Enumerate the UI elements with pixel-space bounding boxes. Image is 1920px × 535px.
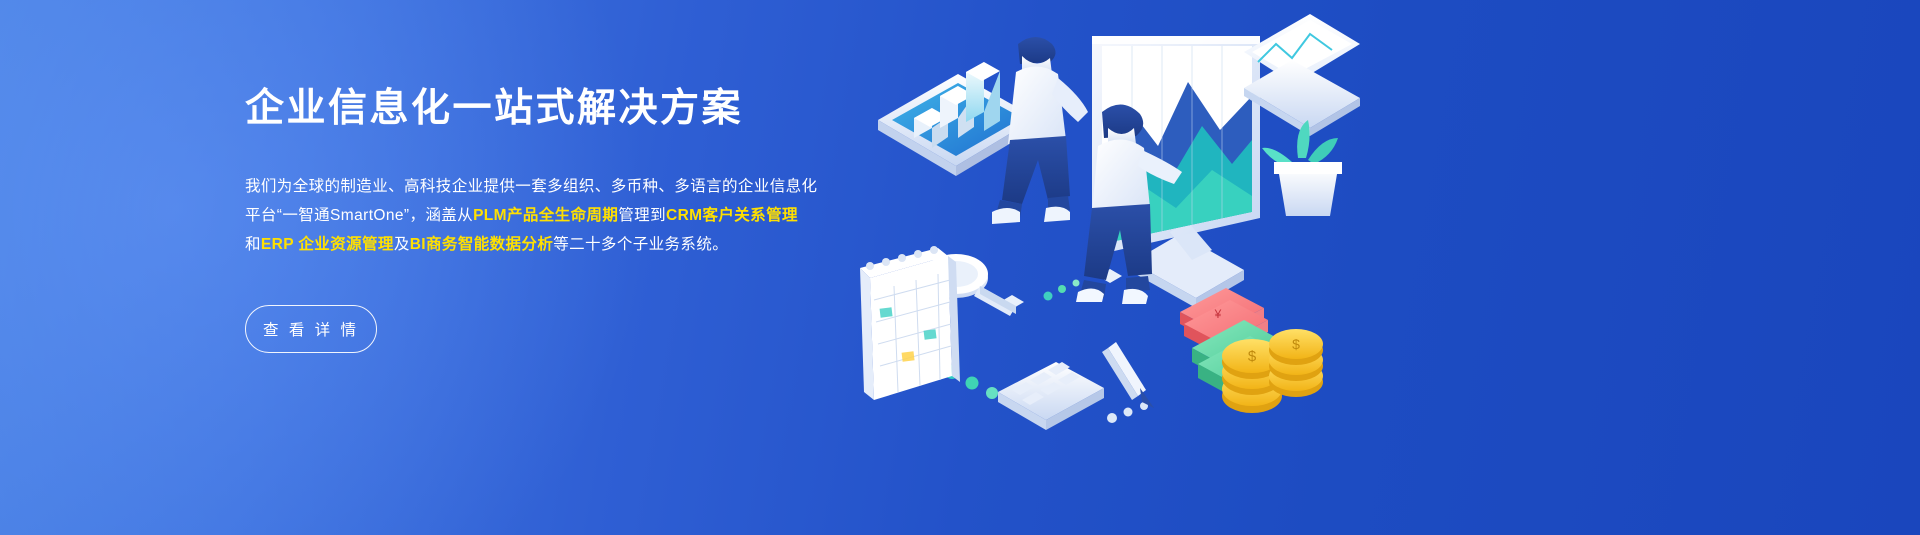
paragraph-run: 和 [245,236,261,253]
laptop-icon [1244,14,1360,136]
paragraph-highlight-run: PLM产品全生命周期 [473,207,618,224]
paragraph-highlight-run: CRM客户关系管理 [666,207,798,224]
paragraph-run: 及 [394,236,410,253]
page-title: 企业信息化一站式解决方案 [245,86,845,132]
paragraph-run: 管理到 [618,207,666,224]
hero-banner: 企业信息化一站式解决方案 我们为全球的制造业、高科技企业提供一套多组织、多币种、… [0,0,1920,535]
gold-coin-stacks-icon: $ $ [1222,329,1323,413]
hero-paragraph-line-1: 我们为全球的制造业、高科技企业提供一套多组织、多币种、多语言的企业信息化 [245,172,845,201]
hero-content: 企业信息化一站式解决方案 我们为全球的制造业、高科技企业提供一套多组织、多币种、… [245,86,845,353]
paragraph-run: 等二十多个子业务系统。 [553,236,728,253]
svg-text:¥: ¥ [1214,307,1222,321]
paragraph-highlight-run: ERP 企业资源管理 [261,236,394,253]
pen-icon [1102,342,1154,408]
svg-text:$: $ [1292,336,1300,352]
desk-calendar-icon [860,246,960,400]
calculator-icon [998,362,1104,430]
hero-illustration: ¥ $ $ $ [840,0,1400,535]
cta-container: 查 看 详 情 [245,305,845,353]
paragraph-highlight-run: BI商务智能数据分析 [410,236,554,253]
svg-text:$: $ [1248,348,1257,365]
potted-plant-icon [1262,120,1342,216]
hero-paragraph-line-2: 平台“一智通SmartOne”，涵盖从PLM产品全生命周期管理到CRM客户关系管… [245,201,845,230]
paragraph-run: 平台“一智通SmartOne”，涵盖从 [245,207,473,224]
hero-paragraph-line-3: 和ERP 企业资源管理及BI商务智能数据分析等二十多个子业务系统。 [245,230,845,259]
paragraph-run: 我们为全球的制造业、高科技企业提供一套多组织、多币种、多语言的企业信息化 [245,178,817,195]
view-details-button[interactable]: 查 看 详 情 [245,305,377,353]
